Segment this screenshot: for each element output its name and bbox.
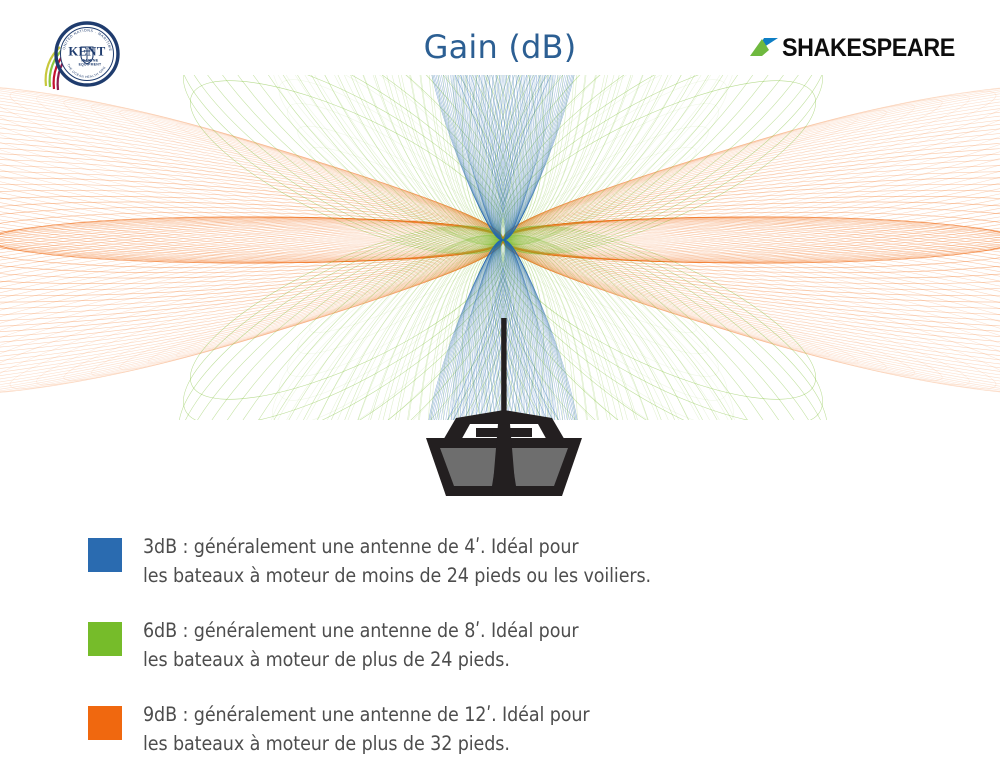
- legend-label-9db: 9dB : généralement une antenne de 12ʹ. I…: [143, 700, 590, 758]
- antenna-mast: [501, 318, 506, 416]
- legend-label-6db: 6dB : généralement une antenne de 8ʹ. Id…: [143, 616, 578, 674]
- legend-swatch-3db: [88, 538, 122, 572]
- shakespeare-logo: SHAKESPEARE: [749, 31, 968, 65]
- boat-with-antenna: [404, 318, 604, 500]
- legend-item-3db: 3dB : généralement une antenne de 4ʹ. Id…: [88, 532, 948, 590]
- shakespeare-chevron-icon: [749, 33, 779, 63]
- legend-swatch-6db: [88, 622, 122, 656]
- boat-svg: [404, 318, 604, 500]
- legend: 3dB : généralement une antenne de 4ʹ. Id…: [88, 532, 948, 784]
- legend-item-6db: 6dB : généralement une antenne de 8ʹ. Id…: [88, 616, 948, 674]
- legend-label-3db: 3dB : généralement une antenne de 4ʹ. Id…: [143, 532, 651, 590]
- shakespeare-wordmark: SHAKESPEARE: [782, 34, 955, 63]
- legend-item-9db: 9dB : généralement une antenne de 12ʹ. I…: [88, 700, 948, 758]
- legend-swatch-9db: [88, 706, 122, 740]
